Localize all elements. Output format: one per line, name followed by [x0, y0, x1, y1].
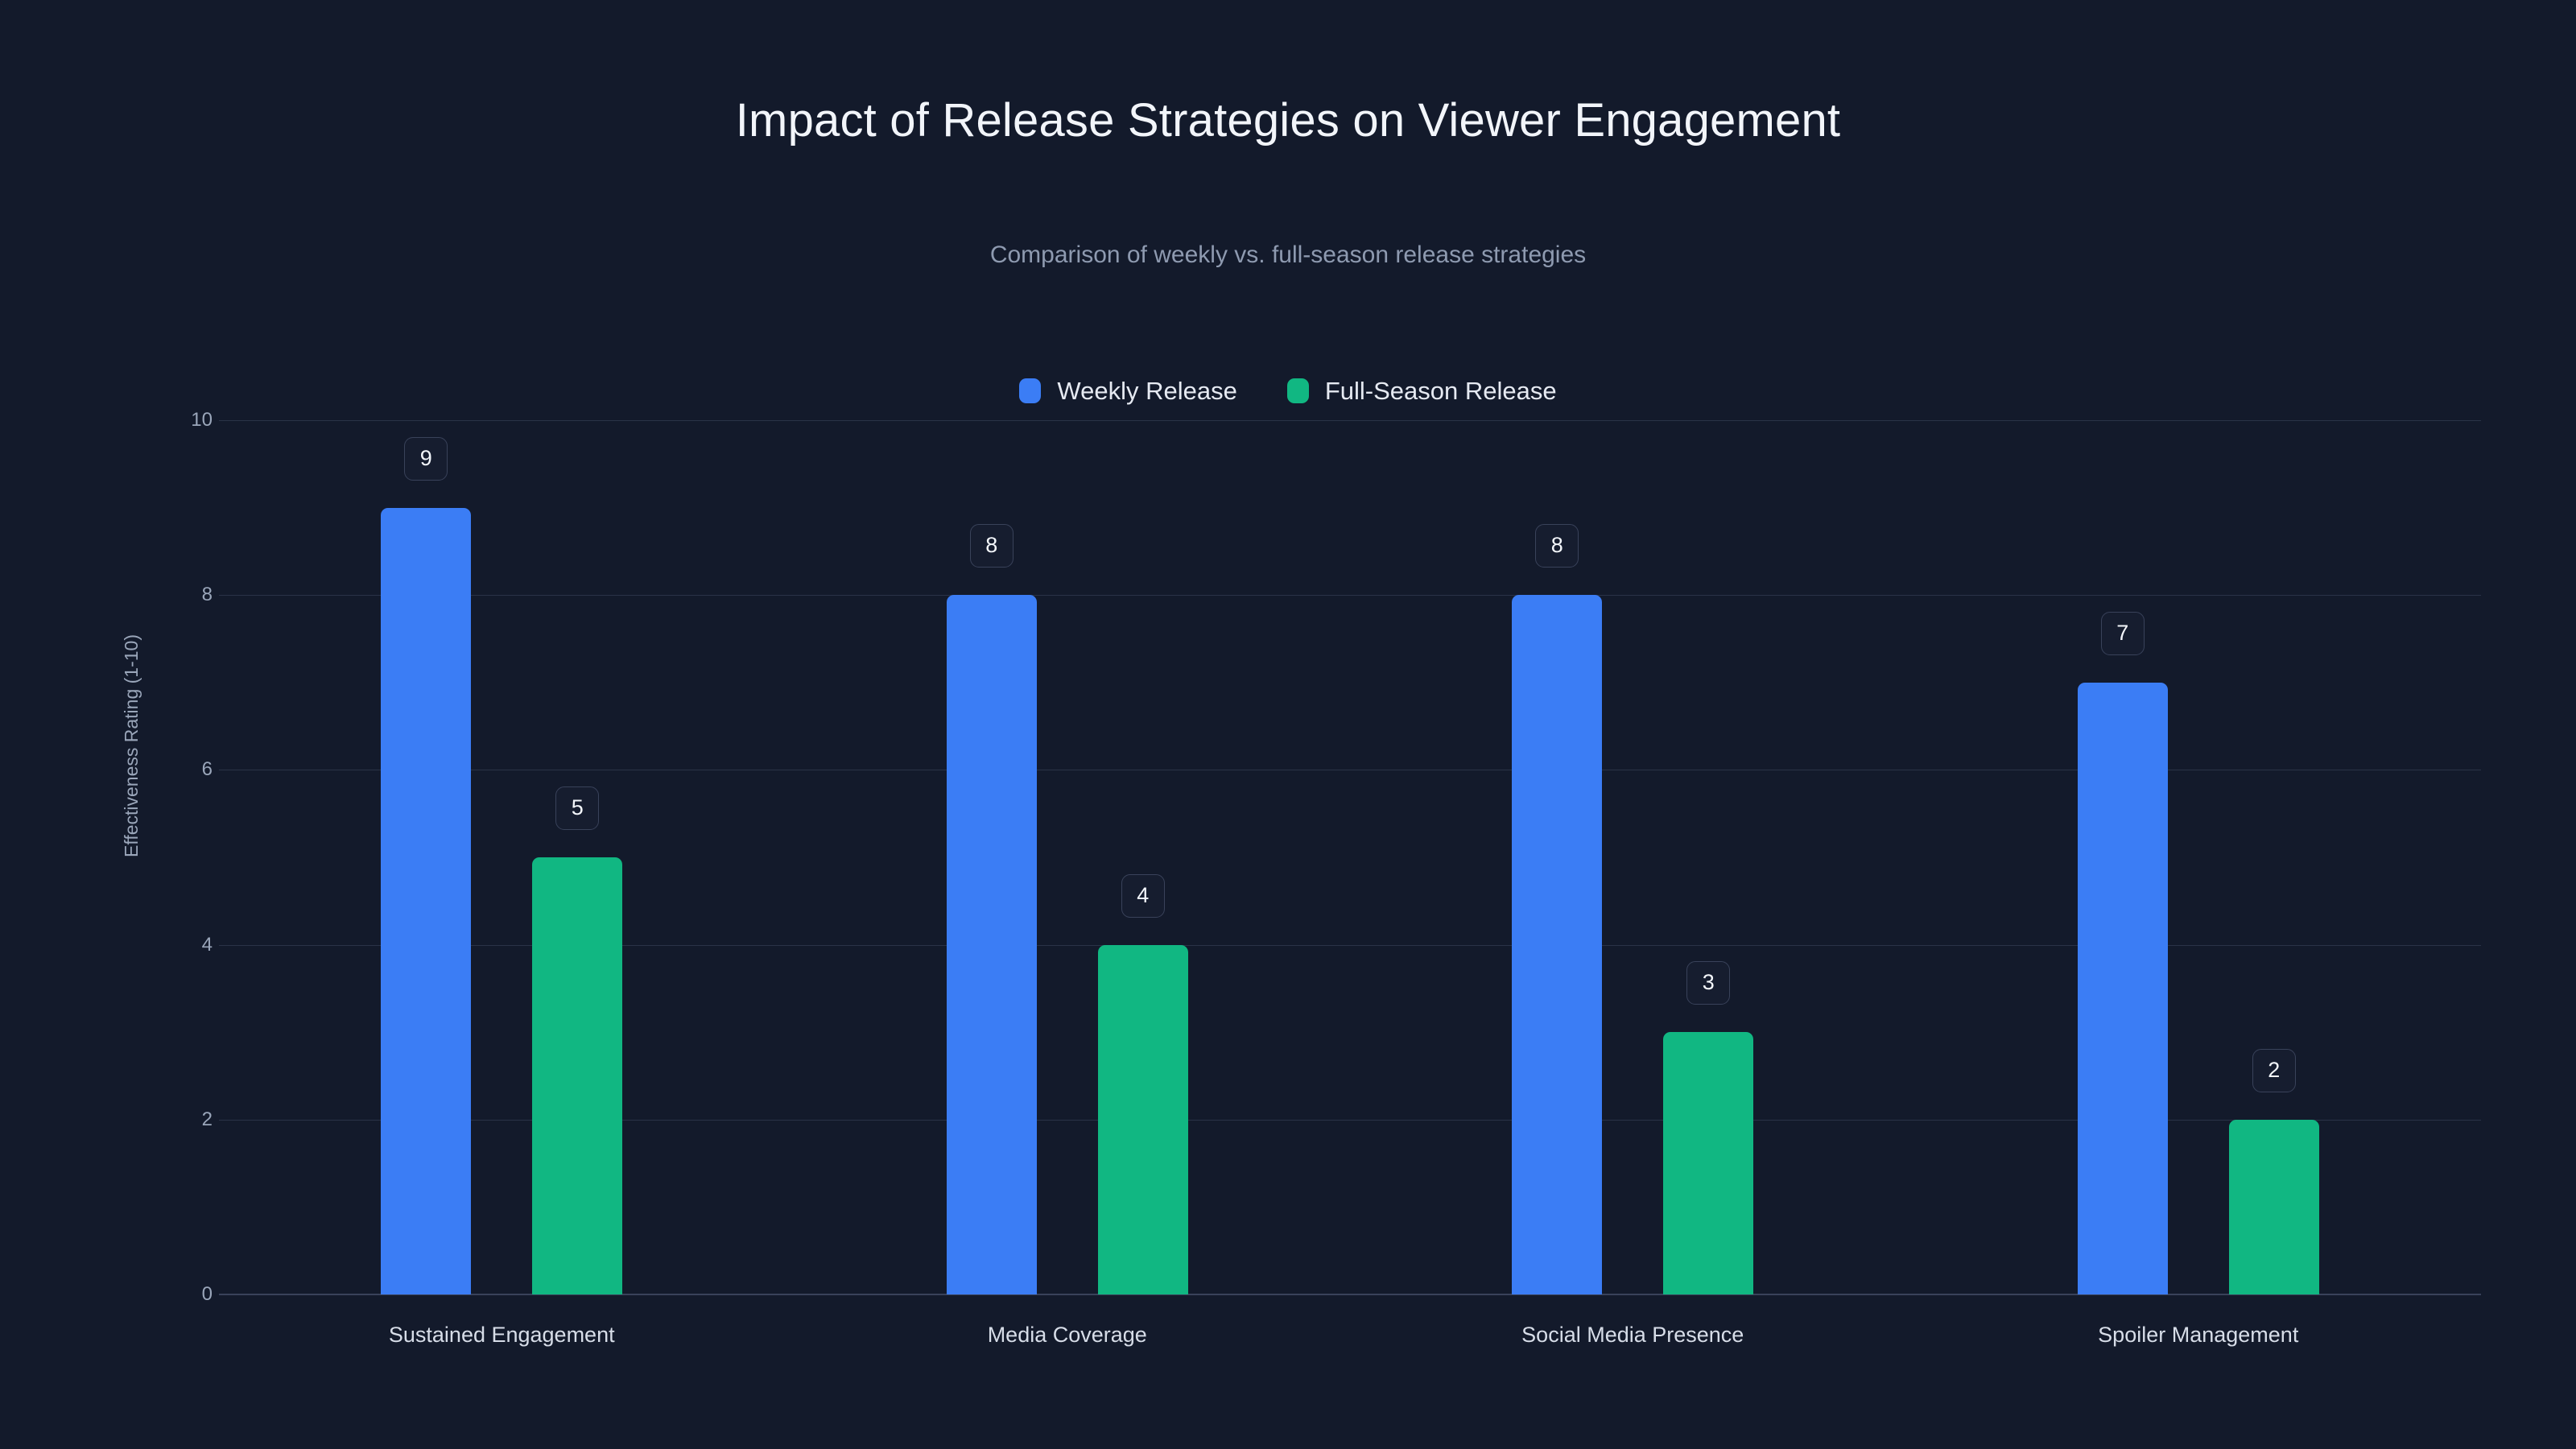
legend-swatch-icon-weekly-release: [1019, 378, 1041, 403]
bar-value-label: 8: [1535, 524, 1579, 568]
legend-swatch-icon-full-season-release: [1287, 378, 1309, 403]
bar[interactable]: [947, 595, 1037, 1294]
y-axis-tick-label: 6: [177, 758, 213, 781]
y-axis-tick-label: 4: [177, 934, 213, 956]
bar[interactable]: [2229, 1120, 2319, 1294]
bar[interactable]: [1663, 1032, 1753, 1294]
bar-chart-figure: Impact of Release Strategies on Viewer E…: [0, 0, 2576, 1449]
legend-item-weekly-release[interactable]: Weekly Release: [1019, 366, 1236, 415]
gridline: [219, 595, 2481, 596]
x-axis-tick-label: Social Media Presence: [1521, 1323, 1744, 1348]
legend-label-full-season-release: Full-Season Release: [1325, 378, 1557, 403]
bar-value-label: 7: [2101, 612, 2145, 655]
bar-value-label: 4: [1121, 874, 1165, 918]
bar[interactable]: [381, 508, 471, 1294]
chart-title: Impact of Release Strategies on Viewer E…: [0, 93, 2576, 147]
bar-value-label: 2: [2252, 1049, 2296, 1092]
y-axis-tick-label: 0: [177, 1283, 213, 1306]
y-axis-title: Effectiveness Rating (1-10): [121, 634, 142, 857]
x-axis-tick-label: Sustained Engagement: [389, 1323, 615, 1348]
chart-legend: Weekly Release Full-Season Release: [0, 366, 2576, 415]
gridline: [219, 420, 2481, 421]
bar[interactable]: [532, 857, 622, 1294]
bar-value-label: 5: [555, 786, 599, 830]
bar[interactable]: [1098, 945, 1188, 1294]
x-axis-tick-label: Media Coverage: [988, 1323, 1147, 1348]
chart-subtitle: Comparison of weekly vs. full-season rel…: [0, 242, 2576, 269]
bar[interactable]: [1512, 595, 1602, 1294]
y-axis-tick-label: 10: [177, 409, 213, 431]
legend-item-full-season-release[interactable]: Full-Season Release: [1287, 366, 1557, 415]
legend-label-weekly-release: Weekly Release: [1057, 378, 1236, 403]
y-axis-tick-label: 8: [177, 584, 213, 606]
bar-value-label: 9: [404, 437, 448, 481]
x-axis-tick-label: Spoiler Management: [2098, 1323, 2298, 1348]
plot-area: 024681095Sustained Engagement84Media Cov…: [219, 420, 2481, 1294]
bar-value-label: 8: [970, 524, 1013, 568]
y-axis-tick-label: 2: [177, 1108, 213, 1131]
bar[interactable]: [2078, 683, 2168, 1294]
bar-value-label: 3: [1686, 961, 1730, 1005]
